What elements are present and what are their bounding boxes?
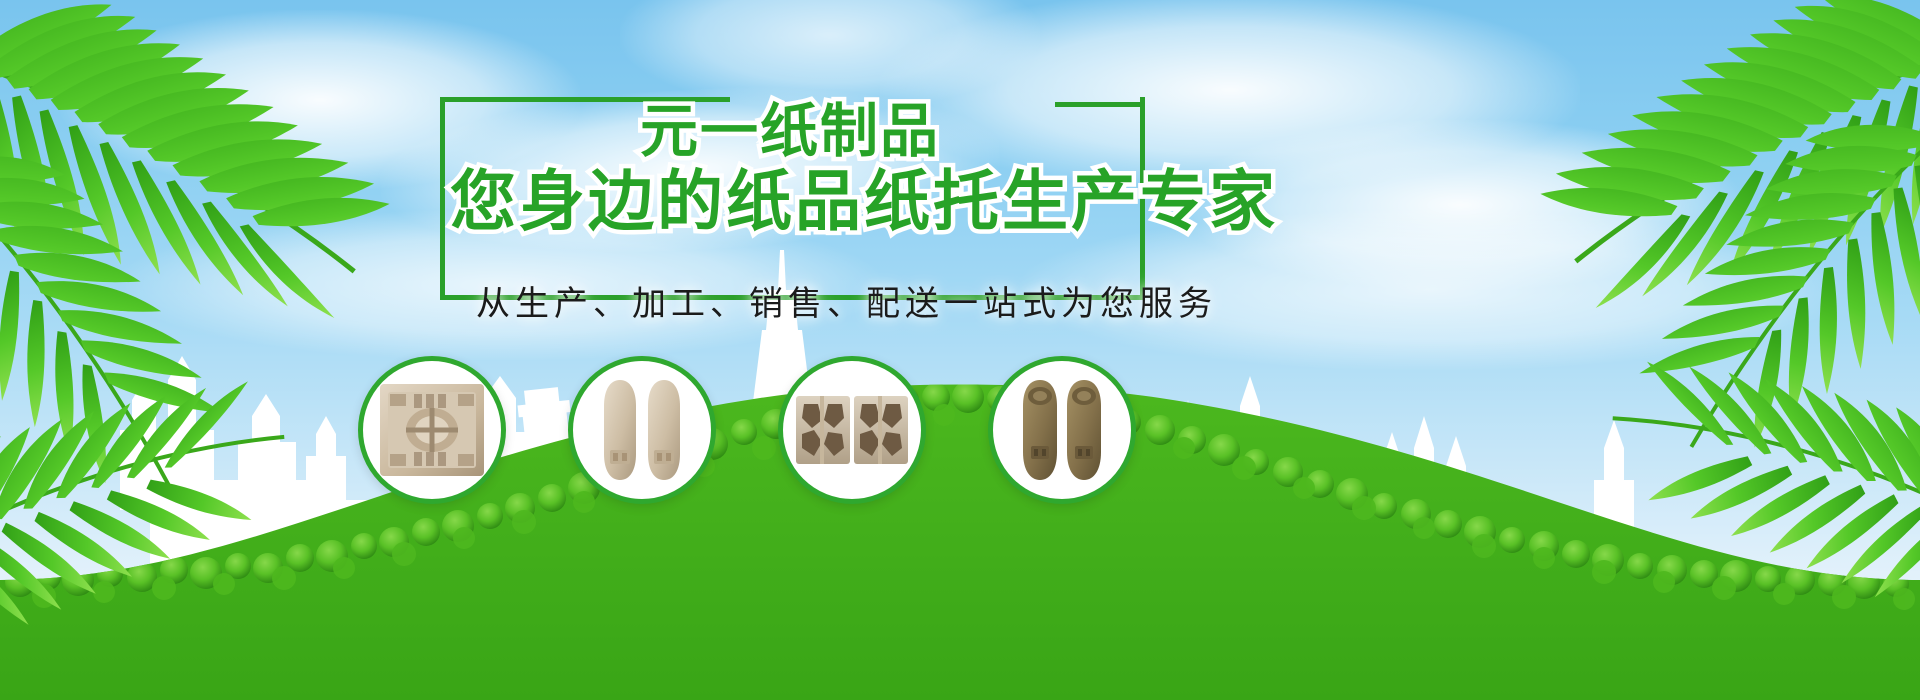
product-badge-molded-pulp-shoe-form-pair[interactable] (988, 356, 1136, 504)
molded-pulp-packaging-pair-icon (794, 390, 910, 470)
product-badge-molded-pulp-packaging-pair[interactable] (778, 356, 926, 504)
molded-pulp-shoe-tree-pair-icon (590, 372, 694, 488)
product-badge-list (0, 0, 1920, 700)
molded-pulp-tray-square-icon (376, 378, 488, 482)
product-badge-molded-pulp-shoe-tree-pair[interactable] (568, 356, 716, 504)
product-badge-molded-pulp-tray-square[interactable] (358, 356, 506, 504)
promo-banner: 元一纸制品 您身边的纸品纸托生产专家 从生产、加工、销售、配送一站式为您服务 (0, 0, 1920, 700)
molded-pulp-shoe-form-pair-icon (1010, 372, 1114, 488)
